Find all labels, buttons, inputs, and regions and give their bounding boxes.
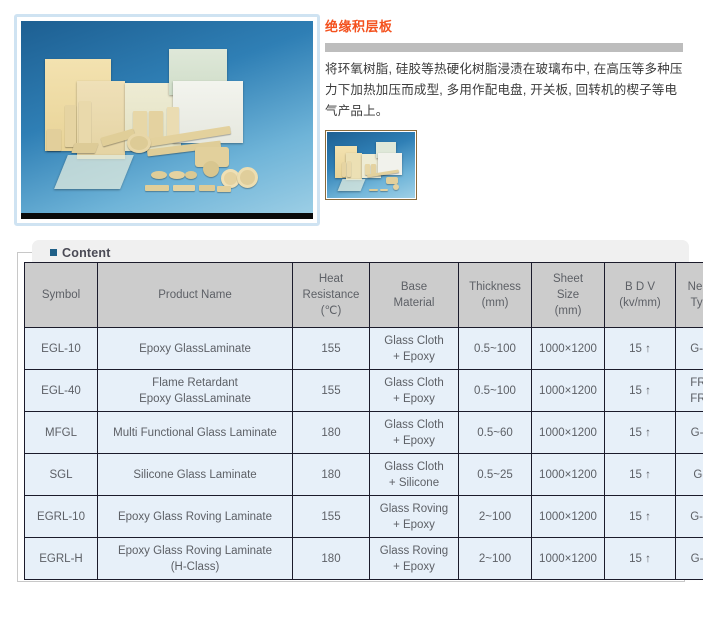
cell-nema: G-10 bbox=[676, 328, 703, 370]
cell-sheet: 1000×1200 bbox=[532, 370, 605, 412]
cell-symbol: EGRL-H bbox=[25, 538, 98, 580]
page-title: 绝缘积层板 bbox=[325, 18, 690, 36]
column-header-symbol: Symbol bbox=[25, 263, 98, 328]
table-row: SGLSilicone Glass Laminate180Glass Cloth… bbox=[25, 454, 703, 496]
cell-heat: 180 bbox=[293, 454, 370, 496]
cell-line: Silicone Glass Laminate bbox=[100, 467, 290, 483]
laminate-washer-2 bbox=[169, 171, 185, 179]
column-header-line: (mm) bbox=[461, 295, 529, 311]
cell-nema: FR-4FR-5 bbox=[676, 370, 703, 412]
laminate-block-d bbox=[71, 143, 99, 153]
cell-line: 1000×1200 bbox=[534, 509, 602, 525]
laminate-gear-hub bbox=[203, 161, 219, 177]
cell-bdv: 15 ↑ bbox=[605, 538, 676, 580]
cell-line: 2~100 bbox=[461, 551, 529, 567]
cell-line: Epoxy Glass Roving Laminate bbox=[100, 543, 290, 559]
product-description: 将环氧树脂, 硅胶等热硬化树脂浸渍在玻璃布中, 在高压等多种压力下加热加压而成型… bbox=[325, 59, 685, 122]
laminate-bushing-2 bbox=[237, 167, 258, 188]
cell-line: Glass Cloth bbox=[372, 333, 456, 349]
cell-heat: 155 bbox=[293, 328, 370, 370]
cell-line: (H-Class) bbox=[100, 559, 290, 575]
thumb-gear bbox=[386, 177, 398, 184]
cell-bdv: 15 ↑ bbox=[605, 454, 676, 496]
cell-bdv: 15 ↑ bbox=[605, 496, 676, 538]
cell-thickness: 2~100 bbox=[459, 496, 532, 538]
cell-line: 155 bbox=[295, 341, 367, 357]
column-header-line: Resistance bbox=[295, 287, 367, 303]
cell-heat: 155 bbox=[293, 370, 370, 412]
cell-line: Epoxy GlassLaminate bbox=[100, 391, 290, 407]
thumb-sheet-floor bbox=[338, 179, 366, 191]
cell-nema: G-10 bbox=[676, 496, 703, 538]
column-header-line: Material bbox=[372, 295, 456, 311]
cell-line: Glass Cloth bbox=[372, 459, 456, 475]
table-row: MFGLMulti Functional Glass Laminate180Gl… bbox=[25, 412, 703, 454]
cell-heat: 180 bbox=[293, 538, 370, 580]
column-header-line: Symbol bbox=[27, 287, 95, 303]
column-header-thickness: Thickness(mm) bbox=[459, 263, 532, 328]
cell-bdv: 15 ↑ bbox=[605, 412, 676, 454]
cell-thickness: 0.5~25 bbox=[459, 454, 532, 496]
cell-sheet: 1000×1200 bbox=[532, 538, 605, 580]
cell-line: 0.5~100 bbox=[461, 383, 529, 399]
cell-line: 15 ↑ bbox=[607, 425, 673, 441]
cell-line: + Epoxy bbox=[372, 517, 456, 533]
cell-name: Epoxy Glass Roving Laminate(H-Class) bbox=[98, 538, 293, 580]
cell-line: Glass Cloth bbox=[372, 417, 456, 433]
cell-bdv: 15 ↑ bbox=[605, 328, 676, 370]
cell-nema: G-7 bbox=[676, 454, 703, 496]
cell-line: EGL-40 bbox=[27, 383, 95, 399]
cell-base: Glass Cloth+ Epoxy bbox=[370, 412, 459, 454]
cell-line: 180 bbox=[295, 425, 367, 441]
cell-bdv: 15 ↑ bbox=[605, 370, 676, 412]
column-header-sheet: SheetSize(mm) bbox=[532, 263, 605, 328]
column-header-line: (kv/mm) bbox=[607, 295, 673, 311]
cell-base: Glass Cloth+ Silicone bbox=[370, 454, 459, 496]
laminate-bar-2 bbox=[173, 185, 195, 191]
thumb-bushing bbox=[393, 184, 399, 190]
column-header-base: BaseMaterial bbox=[370, 263, 459, 328]
table-head: Symbol Product Name HeatResistance(℃) Ba… bbox=[25, 263, 703, 328]
table-body: EGL-10Epoxy GlassLaminate155Glass Cloth+… bbox=[25, 328, 703, 580]
cell-symbol: EGL-40 bbox=[25, 370, 98, 412]
cell-line: + Epoxy bbox=[372, 433, 456, 449]
laminate-sheet-translucent-floor bbox=[54, 155, 134, 189]
cell-base: Glass Roving+ Epoxy bbox=[370, 496, 459, 538]
cell-line: 1000×1200 bbox=[534, 551, 602, 567]
laminate-bar-1 bbox=[145, 185, 169, 191]
thumb-block-b bbox=[347, 161, 351, 177]
column-header-line: B D V bbox=[607, 279, 673, 295]
cell-line: 1000×1200 bbox=[534, 425, 602, 441]
column-header-line: Heat bbox=[295, 271, 367, 287]
cell-sheet: 1000×1200 bbox=[532, 328, 605, 370]
cell-thickness: 2~100 bbox=[459, 538, 532, 580]
cell-base: Glass Roving+ Epoxy bbox=[370, 538, 459, 580]
thumbnail-photo-canvas bbox=[327, 132, 415, 198]
cell-sheet: 1000×1200 bbox=[532, 412, 605, 454]
photo-bottom-edge bbox=[21, 213, 313, 219]
cell-symbol: MFGL bbox=[25, 412, 98, 454]
cell-line: + Silicone bbox=[372, 475, 456, 491]
thumb-bar-1 bbox=[369, 189, 378, 191]
laminate-block-b bbox=[79, 101, 91, 147]
title-divider bbox=[325, 43, 683, 52]
column-header-nema: NemaType bbox=[676, 263, 703, 328]
cell-heat: 180 bbox=[293, 412, 370, 454]
cell-line: + Epoxy bbox=[372, 391, 456, 407]
cell-line: 15 ↑ bbox=[607, 551, 673, 567]
cell-symbol: EGL-10 bbox=[25, 328, 98, 370]
cell-line: 15 ↑ bbox=[607, 341, 673, 357]
cell-line: MFGL bbox=[27, 425, 95, 441]
cell-line: 15 ↑ bbox=[607, 383, 673, 399]
thumb-block-a bbox=[342, 162, 346, 177]
cell-line: FR-5 bbox=[678, 391, 703, 407]
cell-line: Epoxy Glass Roving Laminate bbox=[100, 509, 290, 525]
cell-line: 180 bbox=[295, 467, 367, 483]
column-header-name: Product Name bbox=[98, 263, 293, 328]
cell-thickness: 0.5~60 bbox=[459, 412, 532, 454]
main-product-image[interactable] bbox=[14, 14, 320, 226]
square-bullet-icon bbox=[50, 249, 57, 256]
column-header-line: Thickness bbox=[461, 279, 529, 295]
column-header-line: (℃) bbox=[295, 303, 367, 319]
cell-line: 15 ↑ bbox=[607, 467, 673, 483]
thumb-bar-2 bbox=[380, 189, 388, 191]
laminate-washer-3 bbox=[185, 171, 197, 179]
cell-line: Flame Retardant bbox=[100, 375, 290, 391]
cell-line: G-10 bbox=[678, 341, 703, 357]
cell-line: 0.5~25 bbox=[461, 467, 529, 483]
cell-name: Silicone Glass Laminate bbox=[98, 454, 293, 496]
table-header-row: Symbol Product Name HeatResistance(℃) Ba… bbox=[25, 263, 703, 328]
cell-line: Glass Cloth bbox=[372, 375, 456, 391]
product-thumbnail[interactable] bbox=[325, 130, 417, 200]
column-header-line: Size bbox=[534, 287, 602, 303]
cell-line: Epoxy GlassLaminate bbox=[100, 341, 290, 357]
cell-nema: G-11 bbox=[676, 412, 703, 454]
table-row: EGRL-10Epoxy Glass Roving Laminate155Gla… bbox=[25, 496, 703, 538]
cell-thickness: 0.5~100 bbox=[459, 370, 532, 412]
cell-name: Multi Functional Glass Laminate bbox=[98, 412, 293, 454]
laminate-flange-ring bbox=[127, 133, 151, 153]
cell-line: 0.5~100 bbox=[461, 341, 529, 357]
laminate-washer-1 bbox=[151, 171, 167, 179]
cell-base: Glass Cloth+ Epoxy bbox=[370, 328, 459, 370]
cell-sheet: 1000×1200 bbox=[532, 454, 605, 496]
content-section-label: Content bbox=[62, 246, 111, 260]
laminate-block-a bbox=[65, 105, 76, 147]
laminate-block-c bbox=[47, 129, 61, 151]
cell-line: SGL bbox=[27, 467, 95, 483]
cell-line: 2~100 bbox=[461, 509, 529, 525]
cell-line: EGL-10 bbox=[27, 341, 95, 357]
laminate-bar-4 bbox=[217, 186, 231, 192]
cell-line: 1000×1200 bbox=[534, 341, 602, 357]
cell-name: Epoxy Glass Roving Laminate bbox=[98, 496, 293, 538]
cell-base: Glass Cloth+ Epoxy bbox=[370, 370, 459, 412]
cell-line: Multi Functional Glass Laminate bbox=[100, 425, 290, 441]
column-header-heat: HeatResistance(℃) bbox=[293, 263, 370, 328]
cell-line: Glass Roving bbox=[372, 543, 456, 559]
column-header-line: Base bbox=[372, 279, 456, 295]
column-header-line: Sheet bbox=[534, 271, 602, 287]
column-header-bdv: B D V(kv/mm) bbox=[605, 263, 676, 328]
cell-line: + Epoxy bbox=[372, 559, 456, 575]
product-info-column: 绝缘积层板 将环氧树脂, 硅胶等热硬化树脂浸渍在玻璃布中, 在高压等多种压力下加… bbox=[325, 14, 690, 122]
cell-line: EGRL-10 bbox=[27, 509, 95, 525]
cell-symbol: SGL bbox=[25, 454, 98, 496]
cell-heat: 155 bbox=[293, 496, 370, 538]
column-header-line: (mm) bbox=[534, 303, 602, 319]
cell-thickness: 0.5~100 bbox=[459, 328, 532, 370]
cell-line: G-7 bbox=[678, 467, 703, 483]
cell-name: Epoxy GlassLaminate bbox=[98, 328, 293, 370]
product-overview-section: 绝缘积层板 将环氧树脂, 硅胶等热硬化树脂浸渍在玻璃布中, 在高压等多种压力下加… bbox=[0, 0, 703, 232]
cell-line: 155 bbox=[295, 383, 367, 399]
cell-name: Flame RetardantEpoxy GlassLaminate bbox=[98, 370, 293, 412]
column-header-line: Nema bbox=[678, 279, 703, 295]
specifications-table: Symbol Product Name HeatResistance(℃) Ba… bbox=[24, 262, 703, 580]
column-header-line: Product Name bbox=[100, 287, 290, 303]
table-row: EGL-40Flame RetardantEpoxy GlassLaminate… bbox=[25, 370, 703, 412]
cell-line: 1000×1200 bbox=[534, 383, 602, 399]
cell-line: EGRL-H bbox=[27, 551, 95, 567]
cell-sheet: 1000×1200 bbox=[532, 496, 605, 538]
cell-line: 155 bbox=[295, 509, 367, 525]
main-product-photo-canvas bbox=[21, 21, 313, 219]
cell-line: G-11 bbox=[678, 425, 703, 441]
cell-line: FR-4 bbox=[678, 375, 703, 391]
cell-line: Glass Roving bbox=[372, 501, 456, 517]
content-section: Content Symbol Product Name HeatResistan… bbox=[14, 240, 689, 585]
cell-line: G-10 bbox=[678, 509, 703, 525]
cell-line: 0.5~60 bbox=[461, 425, 529, 441]
laminate-bar-3 bbox=[199, 185, 215, 191]
cell-line: G-11 bbox=[678, 551, 703, 567]
cell-line: + Epoxy bbox=[372, 349, 456, 365]
cell-line: 1000×1200 bbox=[534, 467, 602, 483]
cell-line: 180 bbox=[295, 551, 367, 567]
cell-line: 15 ↑ bbox=[607, 509, 673, 525]
table-row: EGRL-HEpoxy Glass Roving Laminate(H-Clas… bbox=[25, 538, 703, 580]
table-row: EGL-10Epoxy GlassLaminate155Glass Cloth+… bbox=[25, 328, 703, 370]
cell-symbol: EGRL-10 bbox=[25, 496, 98, 538]
column-header-line: Type bbox=[678, 295, 703, 311]
cell-nema: G-11 bbox=[676, 538, 703, 580]
